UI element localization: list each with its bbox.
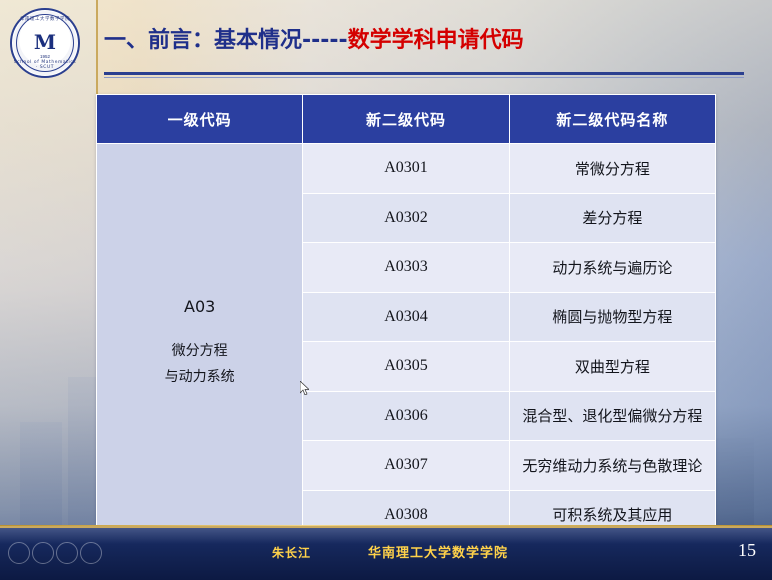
table-header-row: 一级代码 新二级代码 新二级代码名称	[97, 95, 716, 144]
slide-footer: 朱长江 华南理工大学数学学院 15	[0, 526, 772, 580]
table-row: A03 微分方程 与动力系统 A0301 常微分方程	[97, 144, 716, 194]
cell-name: 混合型、退化型偏微分方程	[509, 391, 715, 441]
title-divider	[104, 72, 744, 75]
logo-mark: M	[29, 29, 61, 55]
cell-name: 动力系统与遍历论	[509, 243, 715, 293]
cell-code: A0307	[303, 441, 509, 491]
cell-code: A0304	[303, 292, 509, 342]
page-title-primary: 一、前言：基本情况-----	[104, 28, 348, 53]
page-title-highlight: 数学学科申请代码	[348, 28, 524, 53]
cell-code: A0302	[303, 193, 509, 243]
footer-author: 朱长江	[272, 544, 311, 561]
group-label-line1: 微分方程	[98, 338, 301, 364]
title-divider-secondary	[104, 77, 744, 78]
group-label-line2: 与动力系统	[98, 364, 301, 390]
group-code: A03	[98, 294, 301, 320]
footer-page-number: 15	[738, 540, 756, 561]
university-logo: 华南理工大学数学学院 M 1952 School of Mathematics …	[10, 8, 80, 78]
cell-code: A0301	[303, 144, 509, 194]
cell-name: 椭圆与抛物型方程	[509, 292, 715, 342]
cell-code: A0305	[303, 342, 509, 392]
cell-code: A0306	[303, 391, 509, 441]
logo-top-text: 华南理工大学数学学院	[12, 16, 78, 22]
logo-bottom-text: School of Mathematics · SCUT	[12, 60, 78, 70]
footer-organization: 华南理工大学数学学院	[368, 542, 508, 561]
cell-name: 无穷维动力系统与色散理论	[509, 441, 715, 491]
left-decorative-band	[0, 0, 98, 528]
page-title: 一、前言：基本情况-----数学学科申请代码	[104, 26, 724, 70]
column-header-secondary-code: 新二级代码	[303, 95, 509, 144]
column-header-secondary-name: 新二级代码名称	[509, 95, 715, 144]
codes-table: 一级代码 新二级代码 新二级代码名称 A03 微分方程 与动力系统 A0301 …	[96, 94, 716, 522]
logo-year: 1952	[12, 54, 78, 59]
cell-name: 常微分方程	[509, 144, 715, 194]
column-header-primary-code: 一级代码	[97, 95, 303, 144]
slide: 华南理工大学数学学院 M 1952 School of Mathematics …	[0, 0, 772, 580]
group-cell: A03 微分方程 与动力系统	[97, 144, 303, 540]
cell-code: A0303	[303, 243, 509, 293]
cell-name: 差分方程	[509, 193, 715, 243]
cell-name: 双曲型方程	[509, 342, 715, 392]
mouse-cursor-icon	[300, 381, 309, 395]
footer-dot-decoration	[8, 542, 104, 564]
